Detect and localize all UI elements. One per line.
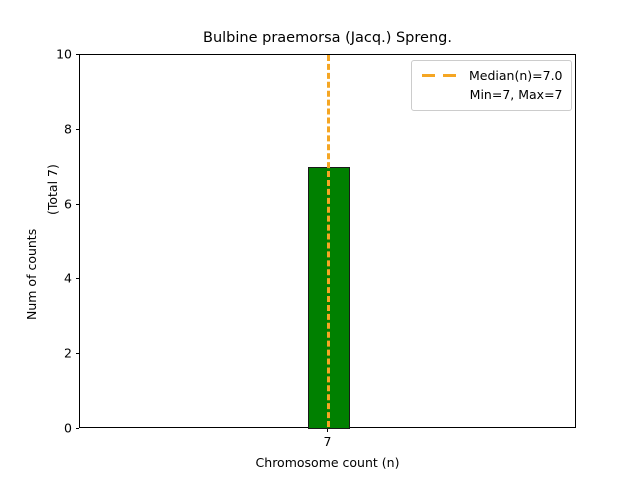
legend-label: Min=7, Max=7 (470, 87, 563, 102)
chart-legend: Median(n)=7.0Min=7, Max=7 (411, 60, 572, 111)
x-axis-label: Chromosome count (n) (79, 455, 576, 470)
x-tick-label: 7 (324, 434, 332, 449)
legend-entry: Median(n)=7.0 (420, 66, 563, 85)
y-tick-label: 10 (56, 47, 72, 62)
legend-entry: Min=7, Max=7 (420, 85, 563, 104)
y-tick-label: 6 (64, 196, 72, 211)
y-axis-total-label: (Total 7) (45, 164, 60, 215)
y-tick-label: 4 (64, 271, 72, 286)
y-tick-label: 0 (64, 421, 72, 436)
y-tick-label: 2 (64, 346, 72, 361)
chart-title: Bulbine praemorsa (Jacq.) Spreng. (79, 30, 576, 46)
y-tick-label: 8 (64, 121, 72, 136)
y-axis-label: Num of counts (24, 229, 39, 320)
legend-dashed-line-icon (420, 70, 460, 82)
median-line (327, 55, 330, 427)
chart-figure: Bulbine praemorsa (Jacq.) Spreng. 024681… (0, 0, 640, 480)
legend-label: Median(n)=7.0 (469, 68, 563, 83)
y-tick-mark (76, 428, 80, 429)
